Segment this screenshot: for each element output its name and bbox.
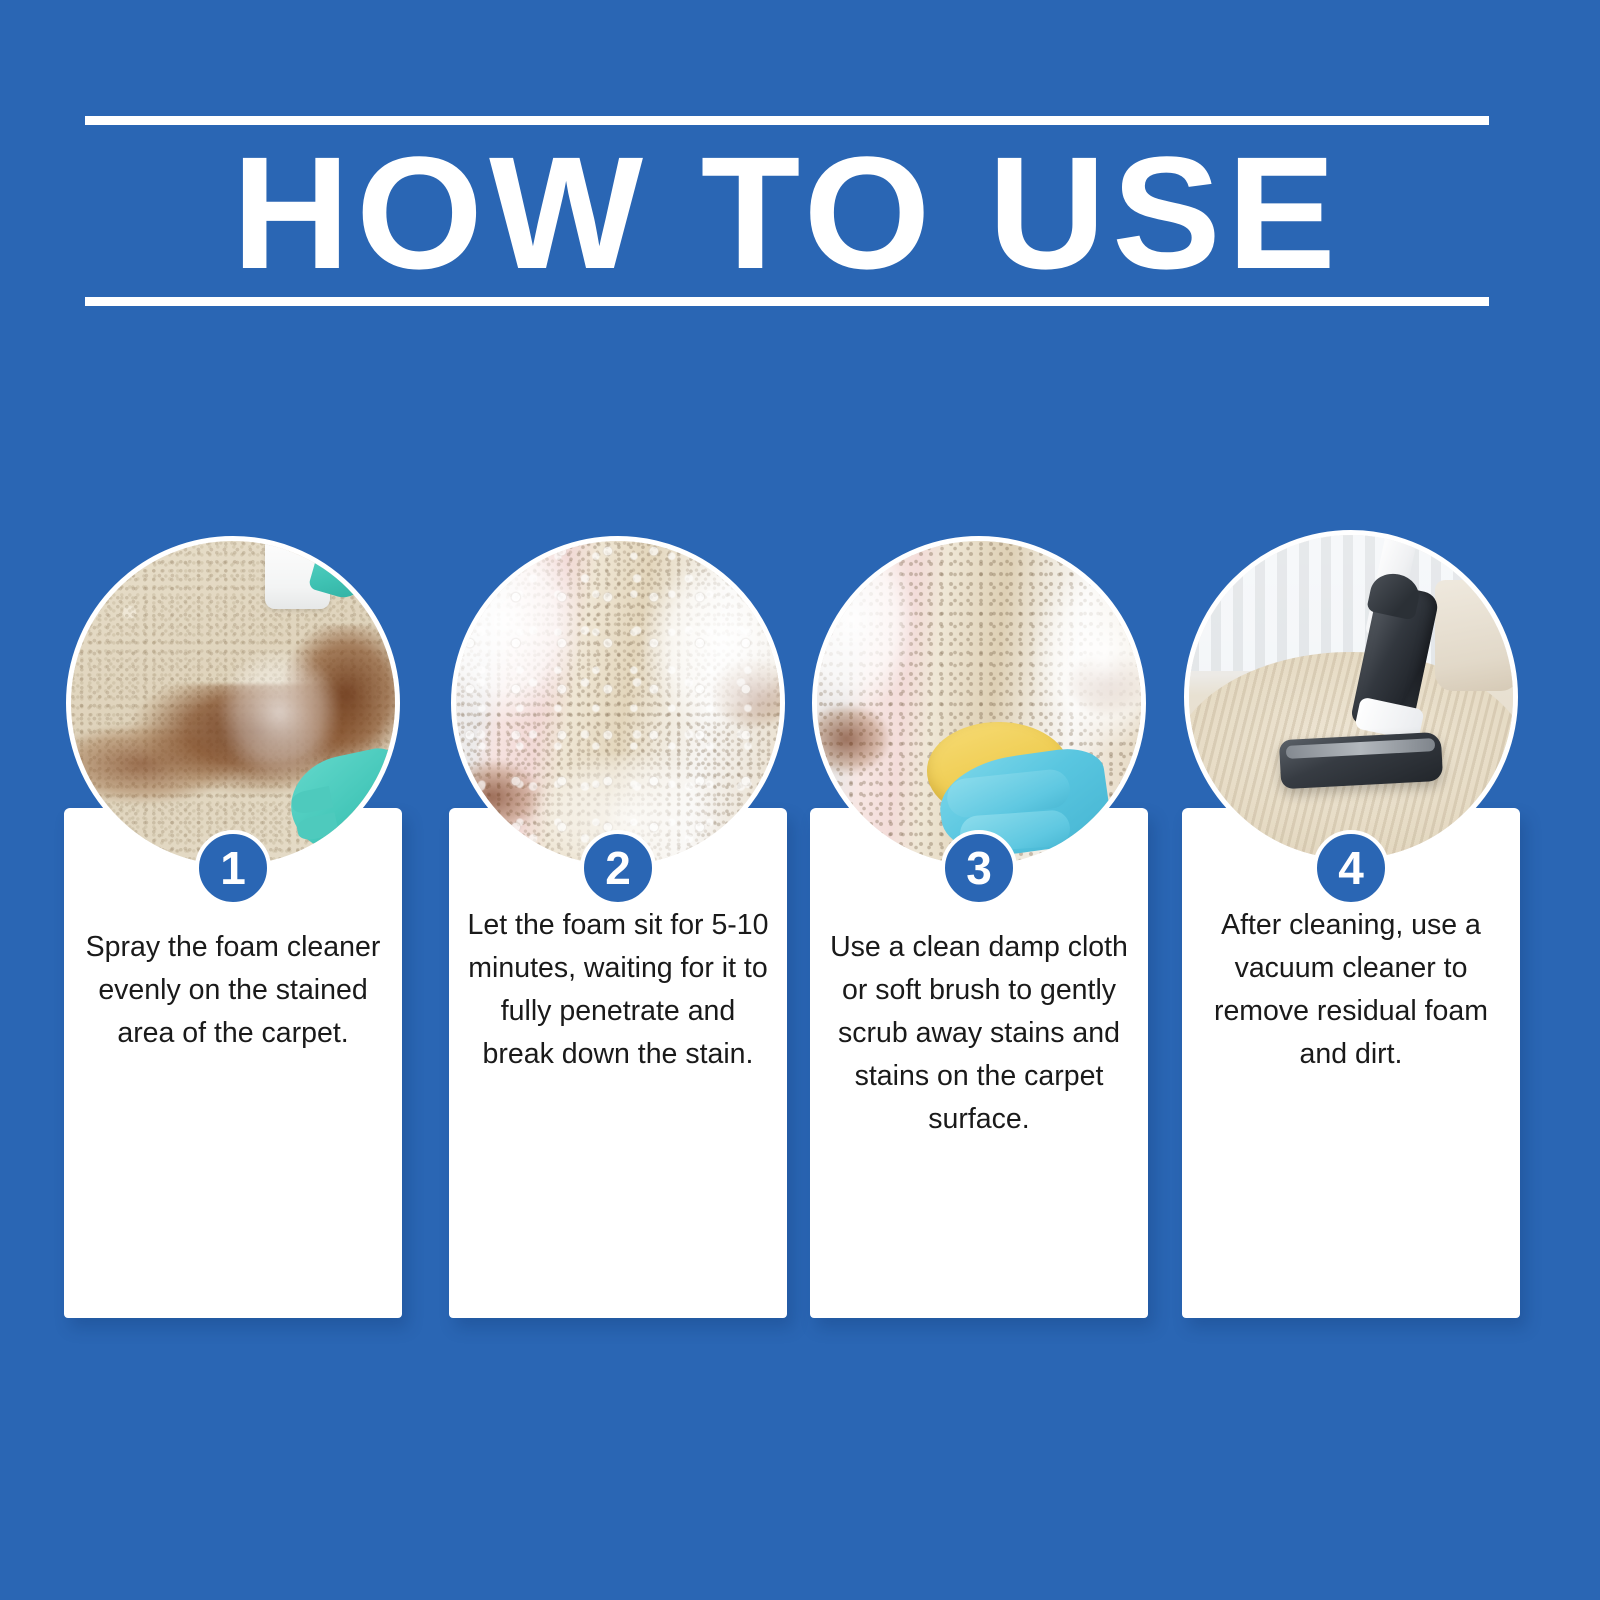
step-card-1[interactable]: 1 Spray the foam cleaner evenly on the s… bbox=[64, 808, 402, 1318]
steps-container: 1 Spray the foam cleaner evenly on the s… bbox=[64, 530, 1536, 1330]
foam-patch-left bbox=[817, 541, 914, 722]
foam-on-carpet-image bbox=[456, 541, 780, 865]
side-stool bbox=[1435, 580, 1513, 690]
step-description-4: After cleaning, use a vacuum cleaner to … bbox=[1198, 904, 1504, 1076]
step-card-4[interactable]: 4 After cleaning, use a vacuum cleaner t… bbox=[1182, 808, 1520, 1318]
vacuum-on-rug-image bbox=[1189, 535, 1513, 859]
step-number-badge-1: 1 bbox=[195, 830, 271, 906]
step-description-2: Let the foam sit for 5-10 minutes, waiti… bbox=[465, 904, 771, 1076]
step-description-3: Use a clean damp cloth or soft brush to … bbox=[826, 926, 1132, 1141]
step-1-photo bbox=[66, 536, 400, 870]
step-number-badge-2: 2 bbox=[580, 830, 656, 906]
page-title: HOW TO USE bbox=[71, 124, 1503, 302]
step-description-1: Spray the foam cleaner evenly on the sta… bbox=[80, 926, 386, 1055]
foam-patch-right bbox=[1031, 560, 1141, 761]
carpet-stain-spray-image bbox=[71, 541, 395, 865]
header-rule-bottom bbox=[85, 297, 1489, 306]
step-3-photo bbox=[812, 536, 1146, 870]
step-card-2[interactable]: 2 Let the foam sit for 5-10 minutes, wai… bbox=[449, 808, 787, 1318]
step-number-badge-4: 4 bbox=[1313, 830, 1389, 906]
header-banner: HOW TO USE bbox=[85, 110, 1489, 310]
step-4-photo bbox=[1184, 530, 1518, 864]
scrubbing-carpet-image bbox=[817, 541, 1141, 865]
foam-bubbles bbox=[456, 541, 780, 865]
step-2-photo bbox=[451, 536, 785, 870]
step-card-3[interactable]: 3 Use a clean damp cloth or soft brush t… bbox=[810, 808, 1148, 1318]
step-number-badge-3: 3 bbox=[941, 830, 1017, 906]
